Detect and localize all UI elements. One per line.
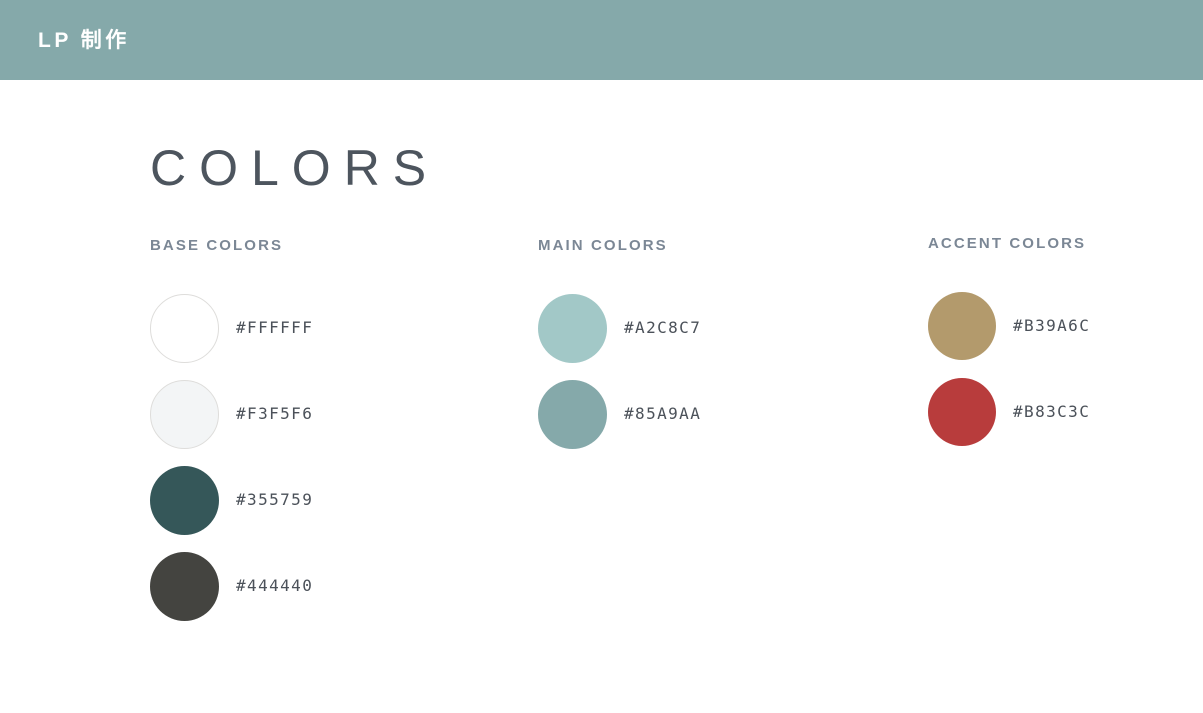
column-title-accent: ACCENT COLORS	[928, 236, 1086, 251]
color-swatch[interactable]	[538, 380, 607, 449]
swatch-row[interactable]: #355759	[150, 457, 313, 543]
swatch-row[interactable]: #B39A6C	[928, 283, 1090, 369]
site-header: LP 制作	[0, 0, 1203, 80]
main-content: COLORS BASE COLORS #FFFFFF #F3F5F6	[0, 80, 1203, 713]
color-swatch[interactable]	[928, 378, 996, 446]
color-hex-label: #355759	[236, 492, 313, 508]
color-swatch[interactable]	[150, 294, 219, 363]
color-hex-label: #B83C3C	[1013, 404, 1090, 420]
color-hex-label: #444440	[236, 578, 313, 594]
swatch-row[interactable]: #444440	[150, 543, 313, 629]
color-swatch[interactable]	[538, 294, 607, 363]
swatch-row[interactable]: #A2C8C7	[538, 285, 701, 371]
page-root: LP 制作 COLORS BASE COLORS #FFFFFF #F3F5F6	[0, 0, 1203, 713]
color-swatch[interactable]	[150, 380, 219, 449]
column-title-base: BASE COLORS	[150, 238, 283, 253]
palette-columns: BASE COLORS #FFFFFF #F3F5F6 #355759	[0, 80, 1203, 713]
color-hex-label: #FFFFFF	[236, 320, 313, 336]
color-hex-label: #B39A6C	[1013, 318, 1090, 334]
swatch-row[interactable]: #F3F5F6	[150, 371, 313, 457]
swatch-row[interactable]: #85A9AA	[538, 371, 701, 457]
color-hex-label: #A2C8C7	[624, 320, 701, 336]
swatch-row[interactable]: #B83C3C	[928, 369, 1090, 455]
swatch-list-base: #FFFFFF #F3F5F6 #355759 #444440	[150, 285, 313, 629]
column-title-main: MAIN COLORS	[538, 238, 668, 253]
swatch-list-main: #A2C8C7 #85A9AA	[538, 285, 701, 457]
color-hex-label: #85A9AA	[624, 406, 701, 422]
color-swatch[interactable]	[150, 466, 219, 535]
swatch-row[interactable]: #FFFFFF	[150, 285, 313, 371]
color-swatch[interactable]	[928, 292, 996, 360]
swatch-list-accent: #B39A6C #B83C3C	[928, 283, 1090, 455]
color-swatch[interactable]	[150, 552, 219, 621]
color-hex-label: #F3F5F6	[236, 406, 313, 422]
brand-title: LP 制作	[38, 0, 130, 80]
